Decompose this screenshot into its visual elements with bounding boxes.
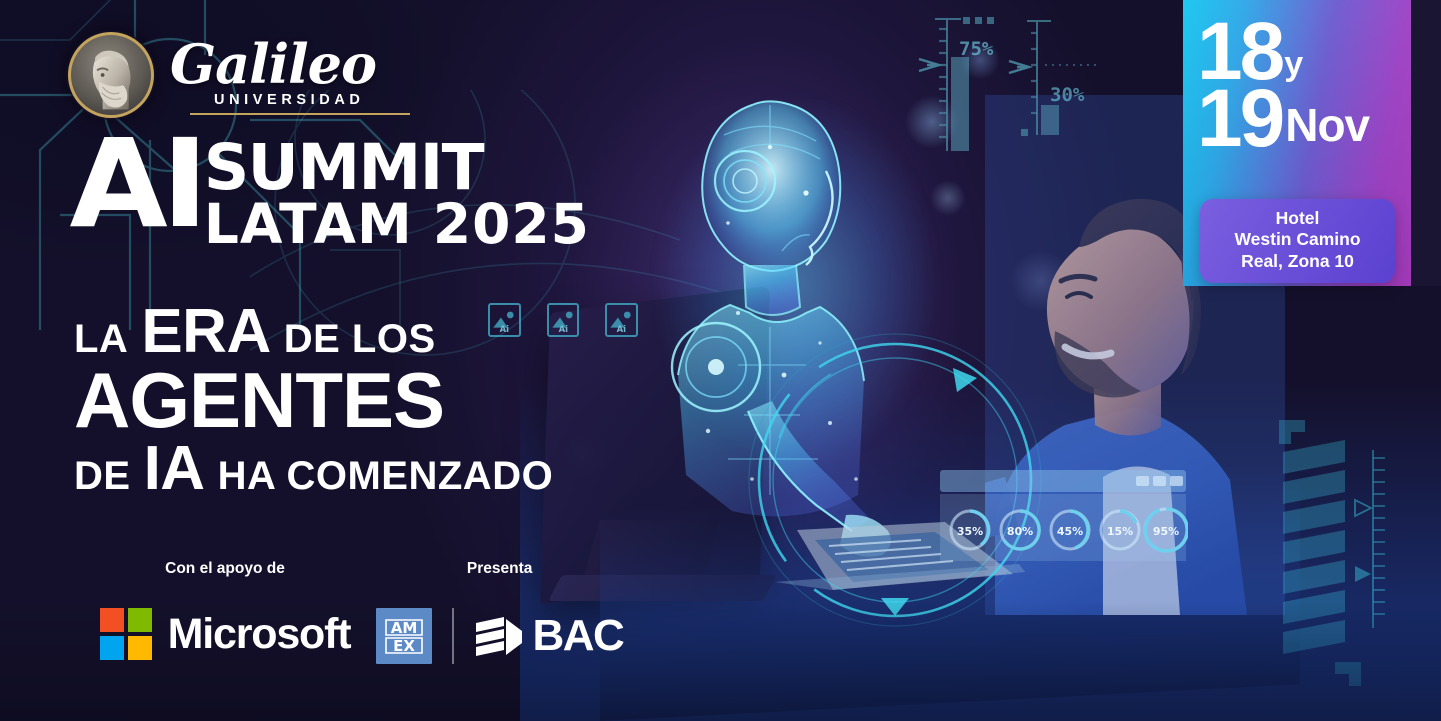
venue-line-3: Real, Zona 10 (1241, 251, 1354, 271)
venue-badge: Hotel Westin Camino Real, Zona 10 (1200, 199, 1395, 283)
presenting-logos: AM EX (376, 608, 623, 664)
title-words: SUMMIT LATAM 2025 (204, 134, 590, 252)
bac-logo[interactable]: BAC (474, 611, 624, 661)
tagline-word-hacomenzado: HA COMENZADO (218, 454, 554, 499)
logo-universidad-text: UNIVERSIDAD (214, 92, 410, 108)
ring-gauge-label-2: 80% (1007, 525, 1033, 538)
bar-gauge-label-2: 30% (1050, 84, 1085, 106)
title-summit: SUMMIT (204, 140, 590, 195)
ring-gauge-label-3: 45% (1057, 525, 1083, 538)
amex-logo[interactable]: AM EX (376, 608, 432, 664)
venue-line-1: Hotel (1276, 208, 1320, 228)
microsoft-square-red (100, 608, 124, 632)
logo-wordmark: Galileo UNIVERSIDAD (168, 35, 410, 114)
bar-gauge-label-1: 75% (959, 38, 994, 60)
microsoft-square-green (128, 608, 152, 632)
svg-text:Ai: Ai (617, 324, 627, 334)
event-dates: 18 y 19 Nov (1183, 0, 1411, 152)
hud-dashboard-panel: 35% 80% 45% 15% 95% (938, 468, 1188, 563)
tagline-line-2: AGENTES (74, 363, 553, 437)
tagline-word-agentes: AGENTES (74, 363, 444, 437)
ring-gauge-label-4: 15% (1107, 525, 1133, 538)
ai-logo-mark: AI (69, 134, 202, 234)
support-sponsor-group: Con el apoyo de Microsoft (74, 560, 376, 664)
logo-divider (452, 608, 454, 664)
tagline-word-de: DE (74, 454, 131, 499)
presenting-logo-row: AM EX (376, 608, 623, 664)
svg-text:Ai: Ai (558, 324, 568, 334)
bac-shield-icon (474, 613, 524, 659)
logo-underline (190, 113, 410, 115)
bac-wordmark: BAC (533, 611, 624, 661)
microsoft-square-yellow (128, 636, 152, 660)
ring-gauge-label-5: 95% (1153, 525, 1179, 538)
event-tagline: LA ERA DE LOS AGENTES DE IA HA COMENZADO (74, 296, 553, 504)
galileo-bust-icon (68, 32, 154, 118)
support-logos: Microsoft (74, 608, 376, 660)
venue-line-2: Westin Camino (1234, 229, 1360, 249)
microsoft-logo[interactable]: Microsoft (100, 608, 351, 660)
microsoft-wordmark: Microsoft (168, 610, 351, 659)
amex-text-ex: EX (393, 637, 415, 655)
date-day-19: 19 (1197, 85, 1282, 152)
date-conjunction: y (1284, 47, 1303, 85)
presenting-sponsor-group: Presenta AM EX (376, 560, 623, 664)
right-dark-strip (1411, 0, 1441, 286)
microsoft-squares-icon (100, 608, 152, 660)
ai-summit-banner: 75% 30% Ai Ai Ai (0, 0, 1441, 721)
microsoft-square-blue (100, 636, 124, 660)
galileo-university-logo[interactable]: Galileo UNIVERSIDAD (68, 32, 410, 118)
support-label: Con el apoyo de (74, 560, 376, 578)
date-month: Nov (1285, 102, 1369, 152)
title-row: AI SUMMIT LATAM 2025 (72, 134, 590, 252)
tagline-word-ia: IA (144, 433, 205, 504)
ring-gauge-label-1: 35% (957, 525, 983, 538)
event-title: AI SUMMIT LATAM 2025 (72, 134, 590, 252)
title-latam-2025: LATAM 2025 (204, 197, 590, 252)
sponsors-section: Con el apoyo de Microsoft Presenta (74, 560, 623, 664)
hud-bar-gauges: 75% 30% (905, 5, 1135, 165)
ai-image-icon: Ai (605, 303, 638, 337)
logo-galileo-text: Galileo (170, 39, 410, 91)
amex-text-am: AM (391, 619, 418, 637)
date-row-second: 19 Nov (1197, 85, 1411, 152)
presents-label: Presenta (376, 560, 623, 578)
